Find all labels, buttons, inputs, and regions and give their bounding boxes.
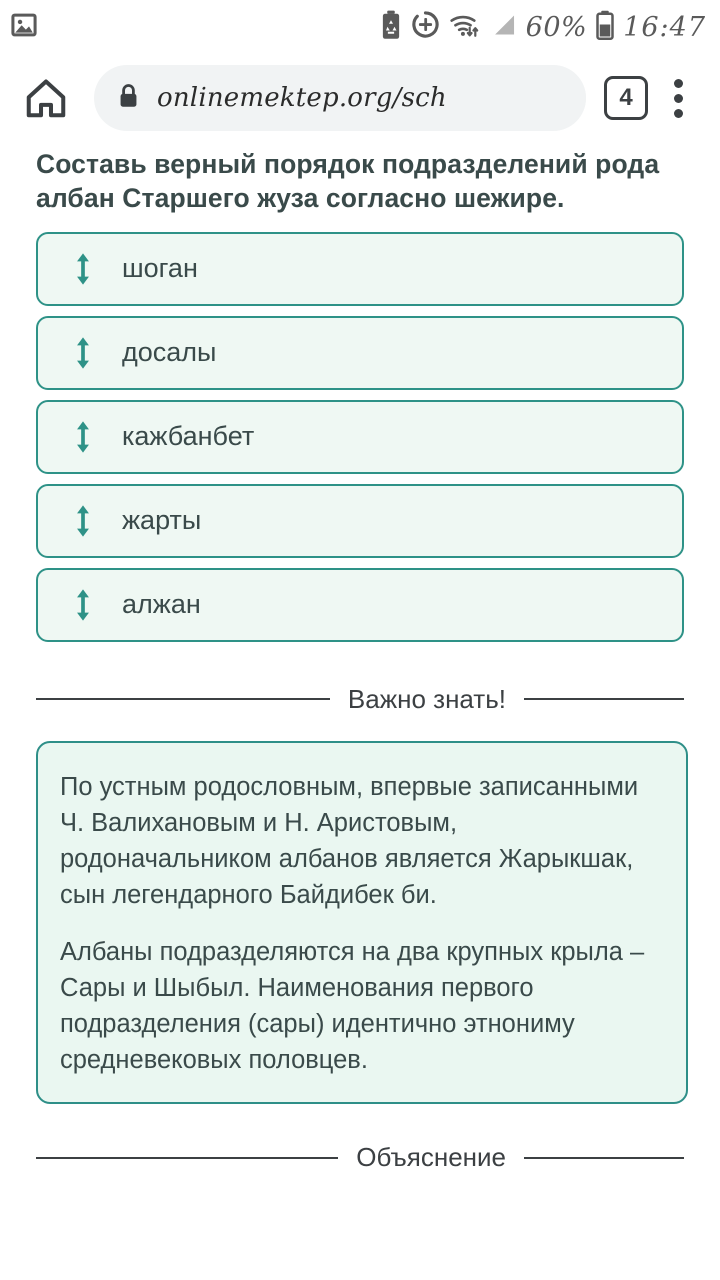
url-text: onlinemektep.org/sch [157, 83, 447, 113]
menu-dot [674, 94, 683, 103]
drag-handle-icon[interactable] [74, 420, 92, 454]
home-icon[interactable] [20, 72, 72, 124]
list-item-label: алжан [122, 591, 201, 618]
list-item-label: шоган [122, 255, 198, 282]
explanation-section-divider: Объяснение [36, 1142, 684, 1173]
divider-line-right [524, 698, 684, 700]
screenshot-image-icon [10, 11, 38, 44]
list-item[interactable]: жарты [36, 484, 684, 558]
status-bar-left [10, 11, 38, 44]
important-section-divider: Важно знать! [36, 684, 684, 715]
info-paragraph: По устным родословным, впервые записанны… [60, 769, 662, 914]
address-bar[interactable]: onlinemektep.org/sch [94, 65, 586, 131]
drag-handle-icon[interactable] [74, 336, 92, 370]
page-content: Составь верный порядок подразделений род… [0, 142, 720, 1173]
status-bar-right: 60% 16:47 [380, 10, 706, 45]
list-item-label: кажбанбет [122, 423, 254, 450]
menu-dot [674, 109, 683, 118]
divider-line-left [36, 698, 330, 700]
list-item[interactable]: алжан [36, 568, 684, 642]
list-item[interactable]: досалы [36, 316, 684, 390]
cellular-signal-icon [491, 12, 517, 43]
important-info-card: По устным родословным, впервые записанны… [36, 741, 688, 1105]
battery-saver-icon [380, 10, 402, 45]
status-bar-clock: 16:47 [623, 14, 706, 41]
battery-icon [596, 10, 614, 45]
browser-toolbar: onlinemektep.org/sch 4 [0, 54, 720, 142]
divider-line-left [36, 1157, 338, 1159]
explanation-section-title: Объяснение [356, 1142, 506, 1173]
list-item[interactable]: шоган [36, 232, 684, 306]
list-item-label: жарты [122, 507, 201, 534]
list-item-label: досалы [122, 339, 216, 366]
status-bar: 60% 16:47 [0, 0, 720, 54]
list-item[interactable]: кажбанбет [36, 400, 684, 474]
drag-handle-icon[interactable] [74, 504, 92, 538]
lock-icon [116, 82, 141, 115]
overflow-menu-icon[interactable] [656, 72, 700, 124]
menu-dot [674, 79, 683, 88]
info-paragraph: Албаны подразделяются на два крупных кры… [60, 934, 662, 1079]
data-saver-plus-circle-icon [411, 10, 440, 44]
divider-line-right [524, 1157, 684, 1159]
tab-counter-button[interactable]: 4 [604, 76, 648, 120]
important-section-title: Важно знать! [348, 684, 506, 715]
question-title: Составь верный порядок подразделений род… [36, 142, 684, 216]
url-truncation-fade [540, 65, 586, 131]
drag-handle-icon[interactable] [74, 252, 92, 286]
wifi-icon [449, 11, 482, 44]
battery-percent-label: 60% [526, 14, 588, 41]
ordering-list: шоган досалы кажбанбет [36, 232, 684, 642]
drag-handle-icon[interactable] [74, 588, 92, 622]
